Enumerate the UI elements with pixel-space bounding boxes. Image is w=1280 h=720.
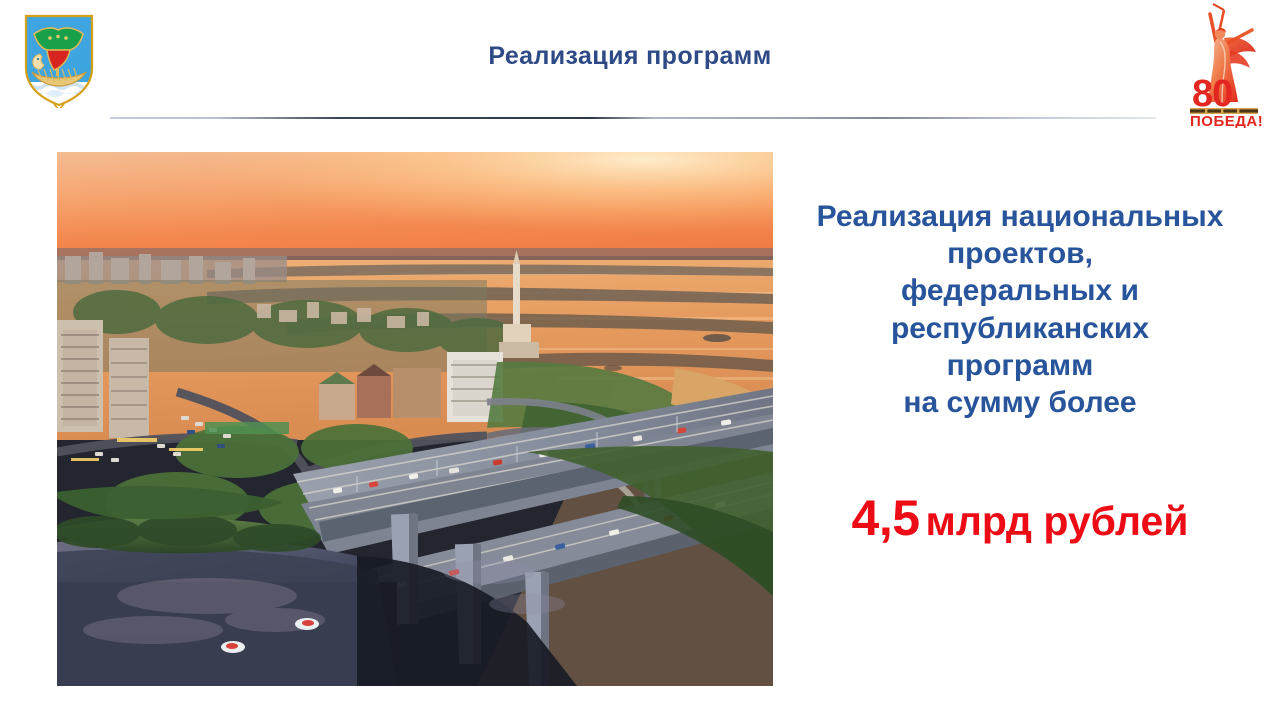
svg-text:ПОБЕДА!: ПОБЕДА! [1190,113,1263,128]
city-aerial-photo [57,152,773,686]
amount-highlight: 4,5млрд рублей [780,493,1260,543]
coat-of-arms-icon [20,12,98,108]
amount-unit: млрд рублей [926,498,1189,544]
header-divider [110,117,1156,119]
content-column: Реализация национальных проектов, федера… [780,198,1260,543]
page-title: Реализация программ [120,42,1140,71]
lead-text: Реализация национальных проектов, федера… [780,198,1260,421]
amount-value: 4,5 [852,490,920,546]
victory-80-logo-icon: 80 ПОБЕДА! [1180,2,1272,128]
slide: Реализация программ [0,0,1280,720]
